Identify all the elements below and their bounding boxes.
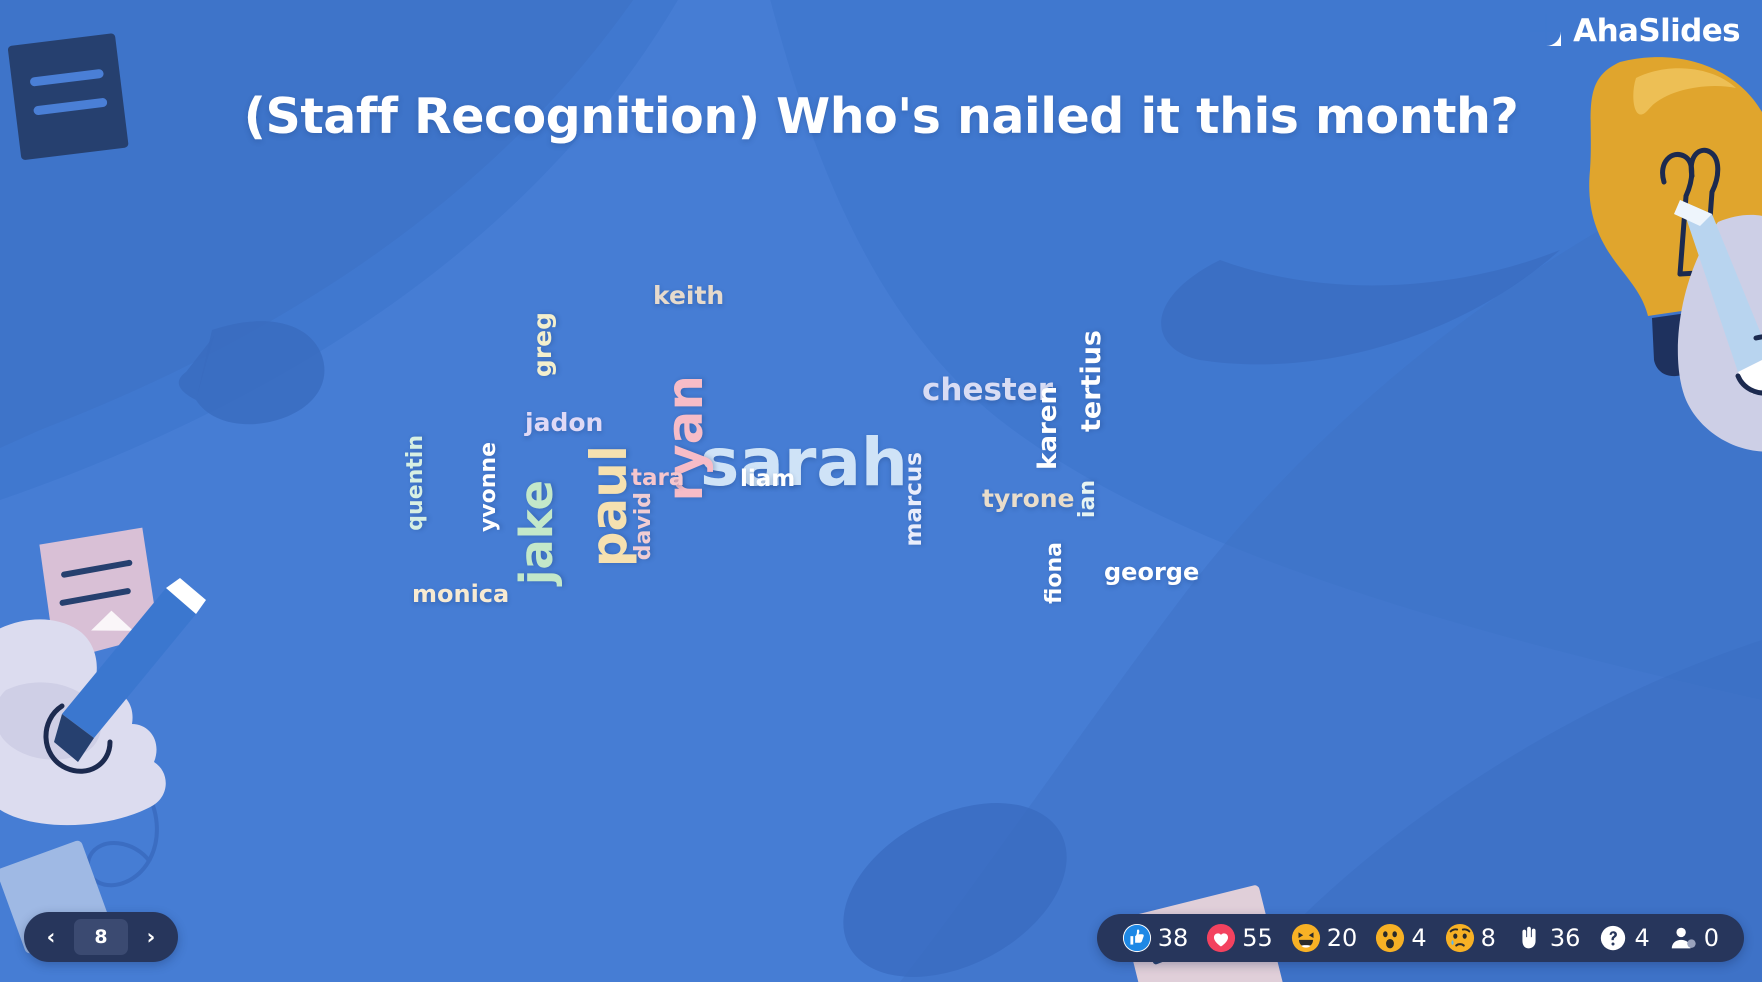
question-mark-icon	[1598, 923, 1628, 953]
reaction-count: 4	[1634, 924, 1649, 952]
person-icon	[1668, 923, 1698, 953]
word-cloud-item[interactable]: keith	[653, 283, 724, 308]
reaction-count: 55	[1242, 924, 1273, 952]
word-cloud-item[interactable]: ian	[1077, 480, 1099, 518]
ahaslides-logo[interactable]: AhaSlides	[1529, 14, 1740, 48]
raised-hand-icon	[1514, 923, 1544, 953]
word-cloud-item[interactable]: david	[633, 492, 655, 560]
word-cloud-item[interactable]: george	[1104, 560, 1199, 584]
word-cloud-item[interactable]: liam	[740, 468, 795, 491]
word-cloud-item[interactable]: paul	[584, 445, 634, 567]
reaction-count: 0	[1704, 924, 1719, 952]
reaction-bar: 385520483640	[1097, 914, 1744, 962]
word-cloud-item[interactable]: sarah	[700, 430, 908, 496]
word-cloud-item[interactable]: karen	[1035, 386, 1061, 470]
word-cloud-item[interactable]: greg	[530, 312, 555, 377]
reaction-count: 8	[1481, 924, 1496, 952]
reaction-raised-hand[interactable]: 36	[1507, 923, 1588, 953]
sad-face-icon	[1445, 923, 1475, 953]
prev-slide-button[interactable]: ‹	[34, 920, 68, 954]
reaction-count: 38	[1158, 924, 1189, 952]
reaction-surprised[interactable]: 4	[1368, 923, 1433, 953]
word-cloud: sarahryanpauljakechestertertiuskarenjado…	[0, 190, 1762, 810]
reaction-count: 36	[1550, 924, 1581, 952]
word-cloud-item[interactable]: marcus	[903, 452, 926, 547]
laughing-face-icon	[1291, 923, 1321, 953]
word-cloud-item[interactable]: jadon	[525, 410, 603, 435]
next-slide-button[interactable]: ›	[134, 920, 168, 954]
thumbs-up-icon	[1122, 923, 1152, 953]
heart-icon	[1206, 923, 1236, 953]
word-cloud-item[interactable]: quentin	[405, 435, 427, 531]
slide-pager: ‹ 8 ›	[24, 912, 178, 962]
word-cloud-item[interactable]: monica	[412, 582, 509, 606]
word-cloud-item[interactable]: yvonne	[478, 442, 500, 532]
word-cloud-item[interactable]: tyrone	[982, 486, 1075, 511]
reaction-heart[interactable]: 55	[1199, 923, 1280, 953]
reaction-thumbs-up[interactable]: 38	[1115, 923, 1196, 953]
reaction-participants[interactable]: 0	[1661, 923, 1726, 953]
reaction-sad[interactable]: 8	[1438, 923, 1503, 953]
reaction-laugh[interactable]: 20	[1284, 923, 1365, 953]
reaction-question[interactable]: 4	[1591, 923, 1656, 953]
word-cloud-item[interactable]: tertius	[1078, 330, 1105, 432]
reaction-count: 20	[1327, 924, 1358, 952]
word-cloud-item[interactable]: tara	[631, 467, 684, 490]
slide-canvas: AhaSlides (Staff Recognition) Who's nail…	[0, 0, 1762, 982]
word-cloud-item[interactable]: fiona	[1044, 542, 1066, 604]
surprised-face-icon	[1375, 923, 1405, 953]
page-number-box[interactable]: 8	[74, 919, 128, 955]
ahaslides-wordmark: AhaSlides	[1573, 16, 1740, 47]
slide-title: (Staff Recognition) Who's nailed it this…	[0, 88, 1762, 145]
word-cloud-item[interactable]: jake	[514, 480, 559, 585]
ahaslides-logo-icon	[1529, 14, 1563, 48]
reaction-count: 4	[1411, 924, 1426, 952]
